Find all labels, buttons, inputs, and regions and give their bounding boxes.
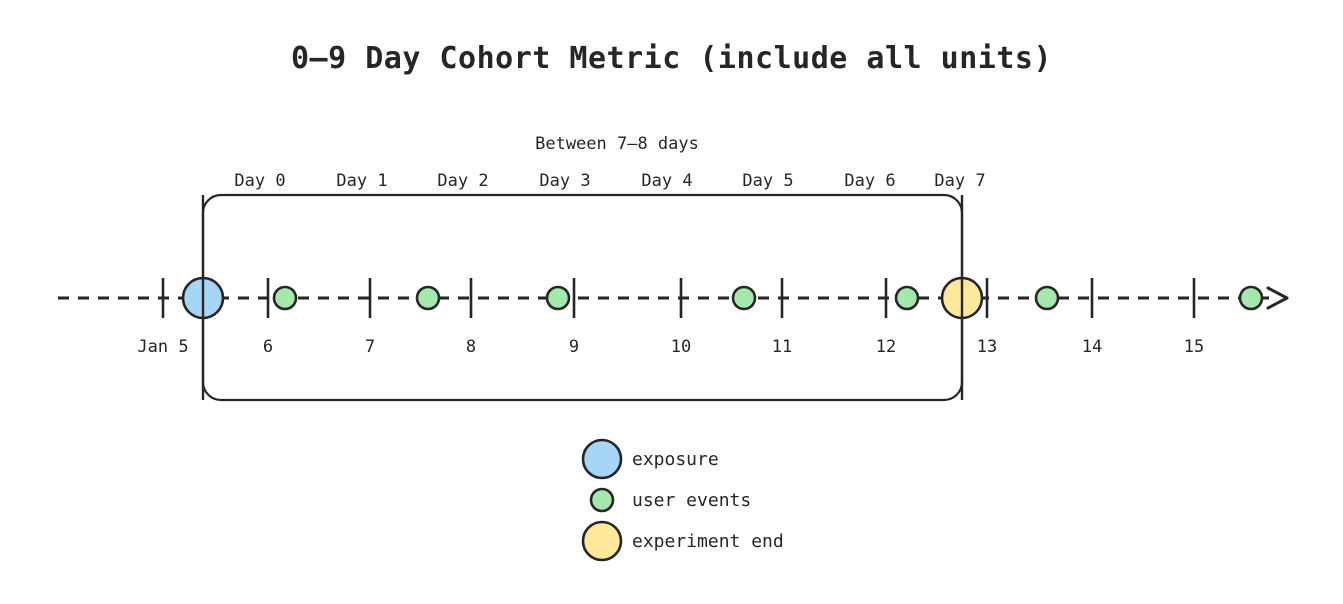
timeline-svg: Between 7–8 days Day 0Day 1Day 2Day 3Day… — [0, 0, 1343, 604]
date-label: Jan 5 — [137, 337, 188, 357]
day-band-label: Day 0 — [234, 171, 285, 191]
day-band-labels: Day 0Day 1Day 2Day 3Day 4Day 5Day 6Day 7 — [234, 171, 985, 191]
event-marker-user_event[interactable] — [1036, 287, 1058, 309]
event-marker-user_event[interactable] — [547, 287, 569, 309]
date-label: 14 — [1082, 337, 1102, 357]
date-label: 8 — [466, 337, 476, 357]
legend-label-user-events: user events — [632, 490, 751, 511]
day-band-label: Day 3 — [539, 171, 590, 191]
timeline-diagram: 0–9 Day Cohort Metric (include all units… — [0, 0, 1343, 604]
legend-label-experiment-end: experiment end — [632, 531, 784, 552]
date-label: 10 — [671, 337, 691, 357]
date-label: 7 — [365, 337, 375, 357]
event-marker-user_event[interactable] — [1240, 287, 1262, 309]
day-band-label: Day 7 — [934, 171, 985, 191]
date-label: 11 — [772, 337, 792, 357]
day-band-label: Day 1 — [336, 171, 387, 191]
date-label: 15 — [1184, 337, 1204, 357]
legend-swatch-experiment-end — [583, 522, 621, 560]
event-marker-user_event[interactable] — [274, 287, 296, 309]
bracket-label: Between 7–8 days — [535, 134, 699, 154]
date-label: 13 — [977, 337, 997, 357]
day-band-label: Day 4 — [641, 171, 692, 191]
legend-swatch-user-events — [591, 489, 613, 511]
event-marker-user_event[interactable] — [417, 287, 439, 309]
event-marker-user_event[interactable] — [733, 287, 755, 309]
date-label: 6 — [263, 337, 273, 357]
legend-swatch-exposure — [583, 440, 621, 478]
day-band-label: Day 5 — [742, 171, 793, 191]
date-label: 12 — [876, 337, 896, 357]
event-marker-user_event[interactable] — [896, 287, 918, 309]
day-band-label: Day 6 — [844, 171, 895, 191]
day-band-label: Day 2 — [437, 171, 488, 191]
legend: exposureuser eventsexperiment end — [583, 440, 784, 560]
timeline-arrow-icon — [1268, 288, 1287, 308]
date-axis-labels: Jan 56789101112131415 — [137, 337, 1204, 357]
legend-label-exposure: exposure — [632, 449, 719, 470]
date-label: 9 — [569, 337, 579, 357]
